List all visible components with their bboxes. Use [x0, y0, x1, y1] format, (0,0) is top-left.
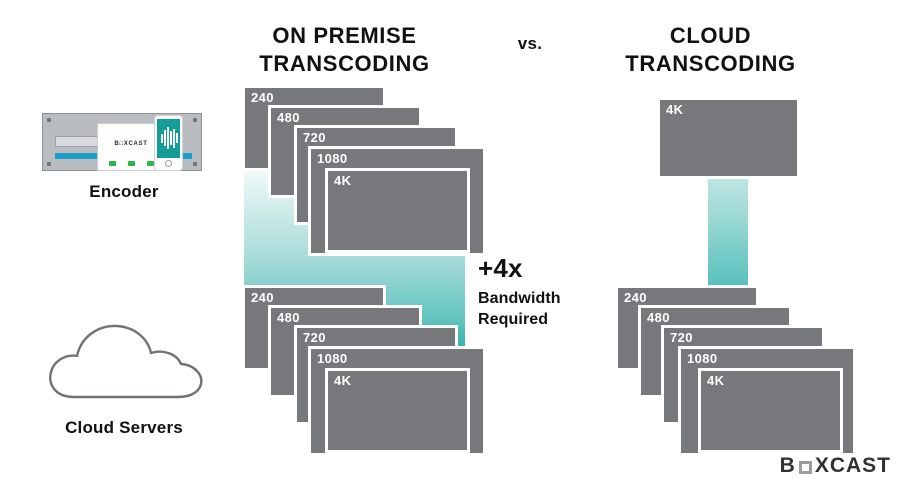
encoder-led-icon — [109, 161, 116, 166]
infographic-canvas: ON PREMISE TRANSCODING vs. CLOUD TRANSCO… — [0, 0, 899, 488]
encoder-screw-icon — [193, 118, 197, 122]
encoder-indicator-bar-left — [55, 153, 102, 159]
boxcast-logo: B XCAST — [780, 454, 891, 478]
heading-on-premise-transcoding: ON PREMISE TRANSCODING — [232, 22, 457, 78]
waveform-bar — [173, 129, 175, 148]
cloud-icon — [50, 326, 201, 397]
video-rendition-label: 240 — [251, 91, 274, 105]
waveform-bar — [170, 131, 172, 145]
encoder-device-illustration: B□XCAST — [42, 113, 202, 171]
video-rendition-label: 4K — [707, 374, 724, 388]
waveform-bar — [167, 127, 169, 149]
encoder-led-icon — [147, 161, 154, 166]
waveform-icon — [157, 119, 180, 158]
cloud-servers-label: Cloud Servers — [15, 418, 233, 438]
video-rendition-label: 720 — [670, 331, 693, 345]
video-rendition-label: 480 — [277, 311, 300, 325]
bandwidth-callout-line-1: Bandwidth — [478, 288, 593, 309]
bandwidth-pipe-cloud — [708, 178, 748, 288]
bandwidth-callout-line-2: Required — [478, 309, 593, 330]
heading-cloud-transcoding: CLOUD TRANSCODING — [598, 22, 823, 78]
waveform-bar — [176, 133, 178, 143]
bandwidth-callout-headline: +4x — [478, 254, 593, 283]
boxcast-logo-text-end: XCAST — [815, 454, 891, 478]
boxcast-logo-square-icon — [799, 461, 812, 474]
video-rendition-label: 720 — [303, 131, 326, 145]
video-rendition-label: 4K — [666, 103, 683, 117]
bandwidth-callout: +4x Bandwidth Required — [478, 254, 593, 330]
video-rendition-box: 4K — [698, 368, 843, 453]
video-rendition-box: 4K — [325, 368, 470, 453]
video-rendition-label: 240 — [251, 291, 274, 305]
video-rendition-box: 4K — [657, 97, 800, 179]
waveform-bar — [161, 134, 163, 143]
video-rendition-label: 1080 — [687, 352, 718, 366]
video-rendition-label: 720 — [303, 331, 326, 345]
video-rendition-label: 240 — [624, 291, 647, 305]
phone-home-button-icon — [165, 160, 172, 167]
encoder-label: Encoder — [15, 182, 233, 202]
encoder-led-icon — [128, 161, 135, 166]
video-rendition-label: 4K — [334, 374, 351, 388]
encoder-screw-icon — [193, 162, 197, 166]
encoder-screw-icon — [47, 162, 51, 166]
video-rendition-label: 480 — [647, 311, 670, 325]
waveform-bar — [164, 130, 166, 146]
video-rendition-label: 1080 — [317, 352, 348, 366]
encoder-phone — [154, 115, 183, 171]
encoder-slot — [55, 136, 102, 147]
video-rendition-box: 4K — [325, 168, 470, 253]
boxcast-logo-text-start: B — [780, 454, 796, 478]
encoder-screw-icon — [47, 118, 51, 122]
video-rendition-label: 1080 — [317, 152, 348, 166]
video-rendition-label: 4K — [334, 174, 351, 188]
versus-label: vs. — [475, 34, 585, 54]
cloud-servers-illustration — [40, 315, 210, 405]
video-rendition-label: 480 — [277, 111, 300, 125]
